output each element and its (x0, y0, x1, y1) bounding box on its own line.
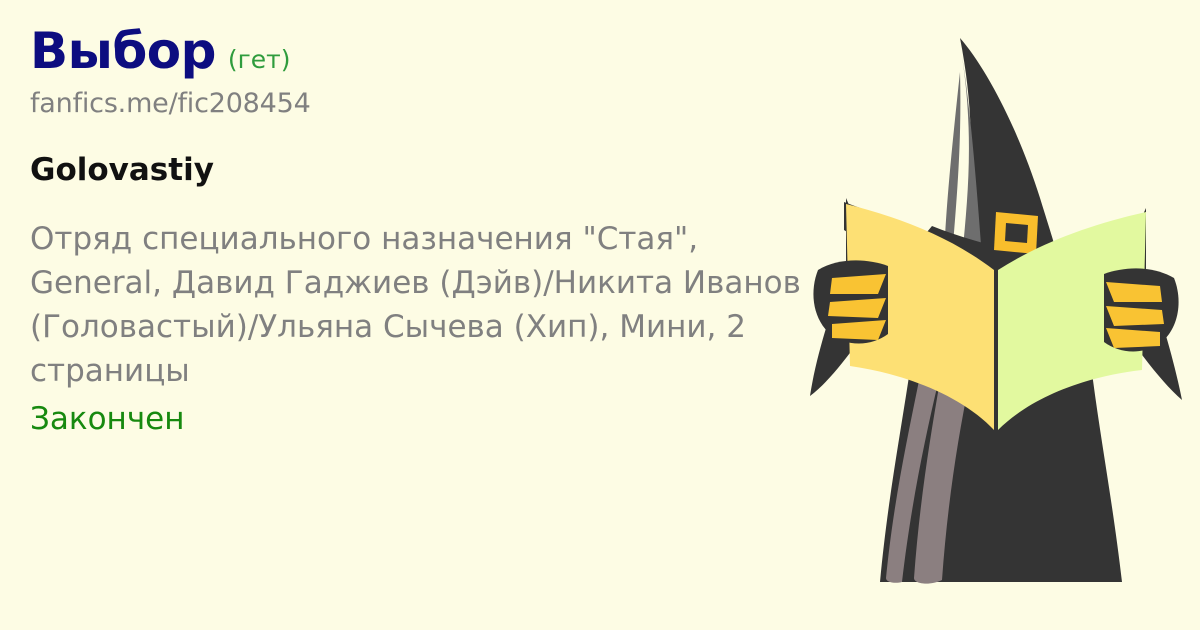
hat-buckle-icon (994, 212, 1038, 254)
witch-left-hand-icon (813, 260, 888, 343)
fic-info-column: Выбор (гет) fanfics.me/fic208454 Golovas… (30, 26, 820, 437)
social-share-card: Выбор (гет) fanfics.me/fic208454 Golovas… (0, 0, 1200, 630)
fic-description: Отряд специального назначения "Стая", Ge… (30, 217, 820, 393)
page-title: Выбор (30, 26, 216, 76)
status-badge: Закончен (30, 401, 820, 437)
title-row: Выбор (гет) (30, 26, 820, 76)
book-spine (994, 270, 998, 430)
witch-right-hand-icon (1104, 268, 1179, 351)
genre-badge: (гет) (228, 47, 291, 72)
witch-reading-book-illustration (802, 26, 1192, 606)
author-name[interactable]: Golovastiy (30, 152, 820, 188)
source-url[interactable]: fanfics.me/fic208454 (30, 88, 820, 119)
